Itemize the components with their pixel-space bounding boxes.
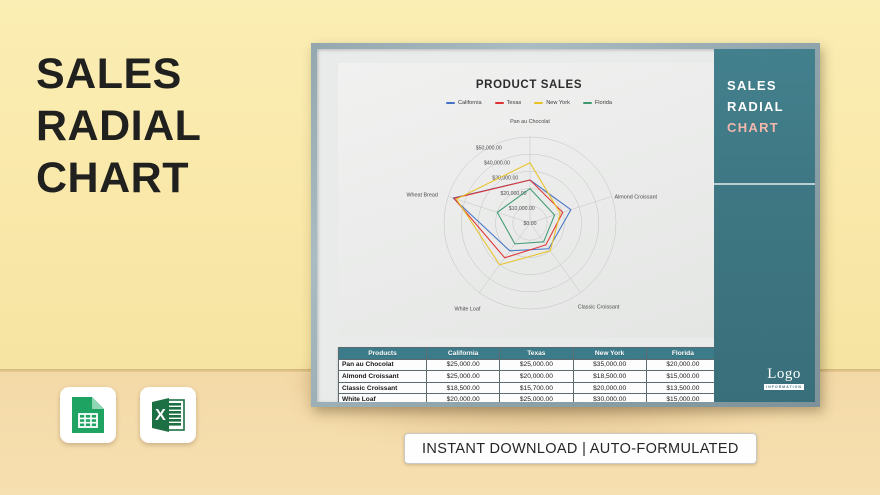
logo: Logo INFORMATION — [764, 367, 804, 390]
instant-download-banner[interactable]: INSTANT DOWNLOAD | AUTO-FORMULATED — [404, 433, 757, 464]
radar-chart: $0.00$10,000.00$20,000.00$30,000.00$40,0… — [395, 115, 665, 331]
panel-divider — [714, 183, 815, 185]
table-header-california: California — [427, 348, 500, 360]
slide-card-inner: PRODUCT SALES California Texas New York … — [317, 49, 815, 402]
radar-axis-label: White Loaf — [455, 307, 481, 313]
page-title-line-1: SALES — [36, 48, 286, 100]
chart-legend: California Texas New York Florida — [338, 100, 720, 106]
sales-data-table: ProductsCaliforniaTexasNew YorkFlorida P… — [338, 347, 720, 402]
radar-axis-label: Almond Croissant — [615, 194, 658, 200]
radial-tick-label: $10,000.00 — [509, 206, 535, 212]
legend-label-florida: Florida — [595, 100, 612, 106]
table-cell-product: White Loaf — [339, 394, 427, 402]
slide-card: PRODUCT SALES California Texas New York … — [311, 43, 820, 407]
table-cell-value: $20,000.00 — [500, 371, 573, 383]
microsoft-excel-icon[interactable]: X — [140, 387, 196, 443]
legend-swatch-texas — [495, 102, 504, 105]
table-row: White Loaf$20,000.00$25,000.00$30,000.00… — [339, 394, 720, 402]
table-header-new-york: New York — [573, 348, 646, 360]
radial-tick-label: $30,000.00 — [492, 176, 518, 182]
panel-title-line-3: CHART — [727, 117, 784, 138]
table-cell-value: $20,000.00 — [573, 382, 646, 394]
table-cell-value: $13,500.00 — [646, 382, 719, 394]
table-cell-product: Almond Croissant — [339, 371, 427, 383]
logo-subtext: INFORMATION — [764, 384, 804, 390]
radial-tick-label: $40,000.00 — [484, 161, 510, 167]
table-cell-product: Pan au Chocolat — [339, 359, 427, 371]
legend-label-california: California — [458, 100, 482, 106]
table-cell-value: $30,000.00 — [573, 394, 646, 402]
radar-axis-label: Pan au Chocolat — [510, 119, 550, 125]
table-header-florida: Florida — [646, 348, 719, 360]
legend-label-new-york: New York — [546, 100, 570, 106]
table-header-row: ProductsCaliforniaTexasNew YorkFlorida — [339, 348, 720, 360]
legend-swatch-new-york — [534, 102, 543, 105]
table-cell-value: $18,500.00 — [573, 371, 646, 383]
table-cell-value: $25,000.00 — [500, 359, 573, 371]
table-cell-product: Classic Croissant — [339, 382, 427, 394]
panel-title-line-2: RADIAL — [727, 96, 784, 117]
data-table-wrapper: ProductsCaliforniaTexasNew YorkFlorida P… — [338, 347, 720, 402]
legend-swatch-california — [446, 102, 455, 105]
table-cell-value: $20,000.00 — [646, 359, 719, 371]
app-icon-group: X — [60, 387, 196, 443]
panel-title-line-1: SALES — [727, 75, 784, 96]
legend-label-texas: Texas — [507, 100, 522, 106]
panel-title: SALES RADIAL CHART — [727, 75, 784, 138]
radar-axis-label: Wheat Bread — [406, 192, 437, 198]
table-cell-value: $25,000.00 — [427, 371, 500, 383]
table-row: Classic Croissant$18,500.00$15,700.00$20… — [339, 382, 720, 394]
table-cell-value: $25,000.00 — [500, 394, 573, 402]
radial-tick-label: $0.00 — [524, 221, 537, 227]
radial-tick-label: $50,000.00 — [476, 146, 502, 152]
legend-item-florida: Florida — [583, 100, 612, 106]
page-title-line-2: RADIAL — [36, 100, 286, 152]
chart-title: PRODUCT SALES — [338, 79, 720, 91]
legend-item-new-york: New York — [534, 100, 570, 106]
table-row: Pan au Chocolat$25,000.00$25,000.00$35,0… — [339, 359, 720, 371]
google-sheets-icon[interactable] — [60, 387, 116, 443]
table-cell-value: $20,000.00 — [427, 394, 500, 402]
table-cell-value: $18,500.00 — [427, 382, 500, 394]
table-cell-value: $15,000.00 — [646, 371, 719, 383]
logo-text: Logo — [764, 367, 804, 382]
legend-swatch-florida — [583, 102, 592, 105]
legend-item-california: California — [446, 100, 482, 106]
table-header-products: Products — [339, 348, 427, 360]
chart-area: PRODUCT SALES California Texas New York … — [338, 63, 720, 338]
table-cell-value: $35,000.00 — [573, 359, 646, 371]
table-header-texas: Texas — [500, 348, 573, 360]
page-title: SALES RADIAL CHART — [36, 48, 286, 204]
legend-item-texas: Texas — [495, 100, 522, 106]
table-cell-value: $15,700.00 — [500, 382, 573, 394]
table-cell-value: $25,000.00 — [427, 359, 500, 371]
table-cell-value: $15,000.00 — [646, 394, 719, 402]
slide-side-panel: SALES RADIAL CHART Logo INFORMATION — [714, 49, 815, 402]
radar-axis-label: Classic Croissant — [578, 305, 620, 311]
svg-text:X: X — [155, 407, 166, 424]
page-title-line-3: CHART — [36, 152, 286, 204]
table-row: Almond Croissant$25,000.00$20,000.00$18,… — [339, 371, 720, 383]
